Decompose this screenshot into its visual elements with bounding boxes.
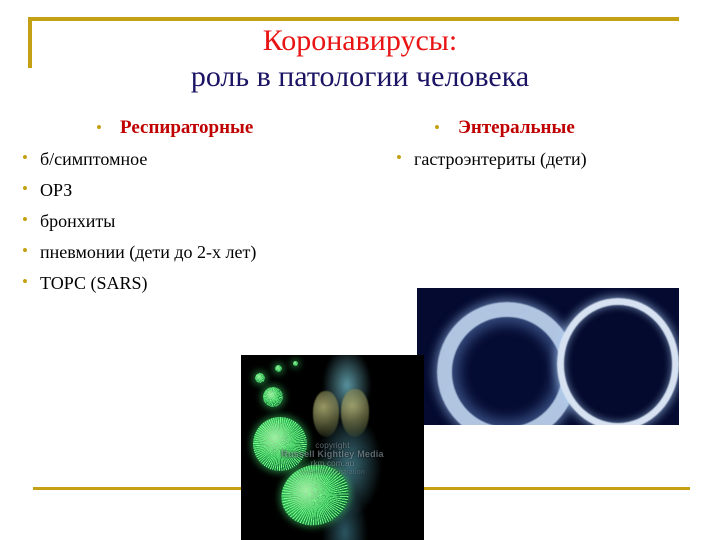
micrograph-rings-image	[417, 288, 679, 425]
bullet-icon: •	[22, 177, 40, 201]
virus-particle	[255, 373, 265, 383]
bullet-icon: •	[22, 208, 40, 232]
column-heading-label: Респираторные	[120, 116, 253, 140]
coronavirus-illustration-image: copyright Russell Kightley Media rkm.com…	[241, 355, 424, 540]
list-item-label: гастроэнтериты (дети)	[414, 146, 587, 172]
column-heading-row: • Энтеральные	[386, 116, 706, 140]
content-column-respiratory: • Респираторные • б/симптомное • ОРЗ • б…	[22, 116, 352, 301]
title-line-primary: Коронавирусы:	[0, 24, 720, 58]
column-heading-row: • Респираторные	[22, 116, 352, 140]
list-item-label: пневмонии (дети до 2-х лет)	[40, 239, 256, 265]
list-item-label: б/симптомное	[40, 146, 147, 172]
watermark-line-3: rkm.com.au	[241, 459, 424, 468]
bullet-icon: •	[22, 270, 40, 294]
lung-right	[341, 389, 369, 437]
slide-title: Коронавирусы: роль в патологии человека	[0, 24, 720, 93]
list-item: • ОРЗ	[22, 177, 352, 203]
decorative-rule-top	[28, 17, 679, 21]
list-item: • бронхиты	[22, 208, 352, 234]
content-column-enteral: • Энтеральные • гастроэнтериты (дети)	[386, 116, 706, 177]
bullet-icon: •	[434, 116, 458, 140]
list-item: • пневмонии (дети до 2-х лет)	[22, 239, 352, 265]
list-item: • гастроэнтериты (дети)	[386, 146, 706, 172]
list-item-label: ТОРС (SARS)	[40, 270, 148, 296]
list-item: • б/симптомное	[22, 146, 352, 172]
list-item: • ТОРС (SARS)	[22, 270, 352, 296]
bullet-icon: •	[22, 146, 40, 170]
bullet-icon: •	[396, 146, 414, 170]
ring-structure-right	[557, 298, 679, 425]
watermark-line-2: Russell Kightley Media	[241, 450, 424, 459]
bullet-icon: •	[22, 239, 40, 263]
lung-left	[313, 391, 339, 437]
watermark-line-4: scientific illustration	[241, 468, 424, 477]
column-heading-label: Энтеральные	[458, 116, 575, 140]
title-line-secondary: роль в патологии человека	[0, 60, 720, 94]
list-item-label: бронхиты	[40, 208, 115, 234]
image-watermark: copyright Russell Kightley Media rkm.com…	[241, 441, 424, 477]
virus-particle	[263, 387, 283, 407]
virus-particle	[293, 361, 298, 366]
slide-canvas: Коронавирусы: роль в патологии человека …	[0, 0, 720, 540]
bullet-icon: •	[96, 116, 120, 140]
list-item-label: ОРЗ	[40, 177, 72, 203]
virus-particle	[275, 365, 282, 372]
